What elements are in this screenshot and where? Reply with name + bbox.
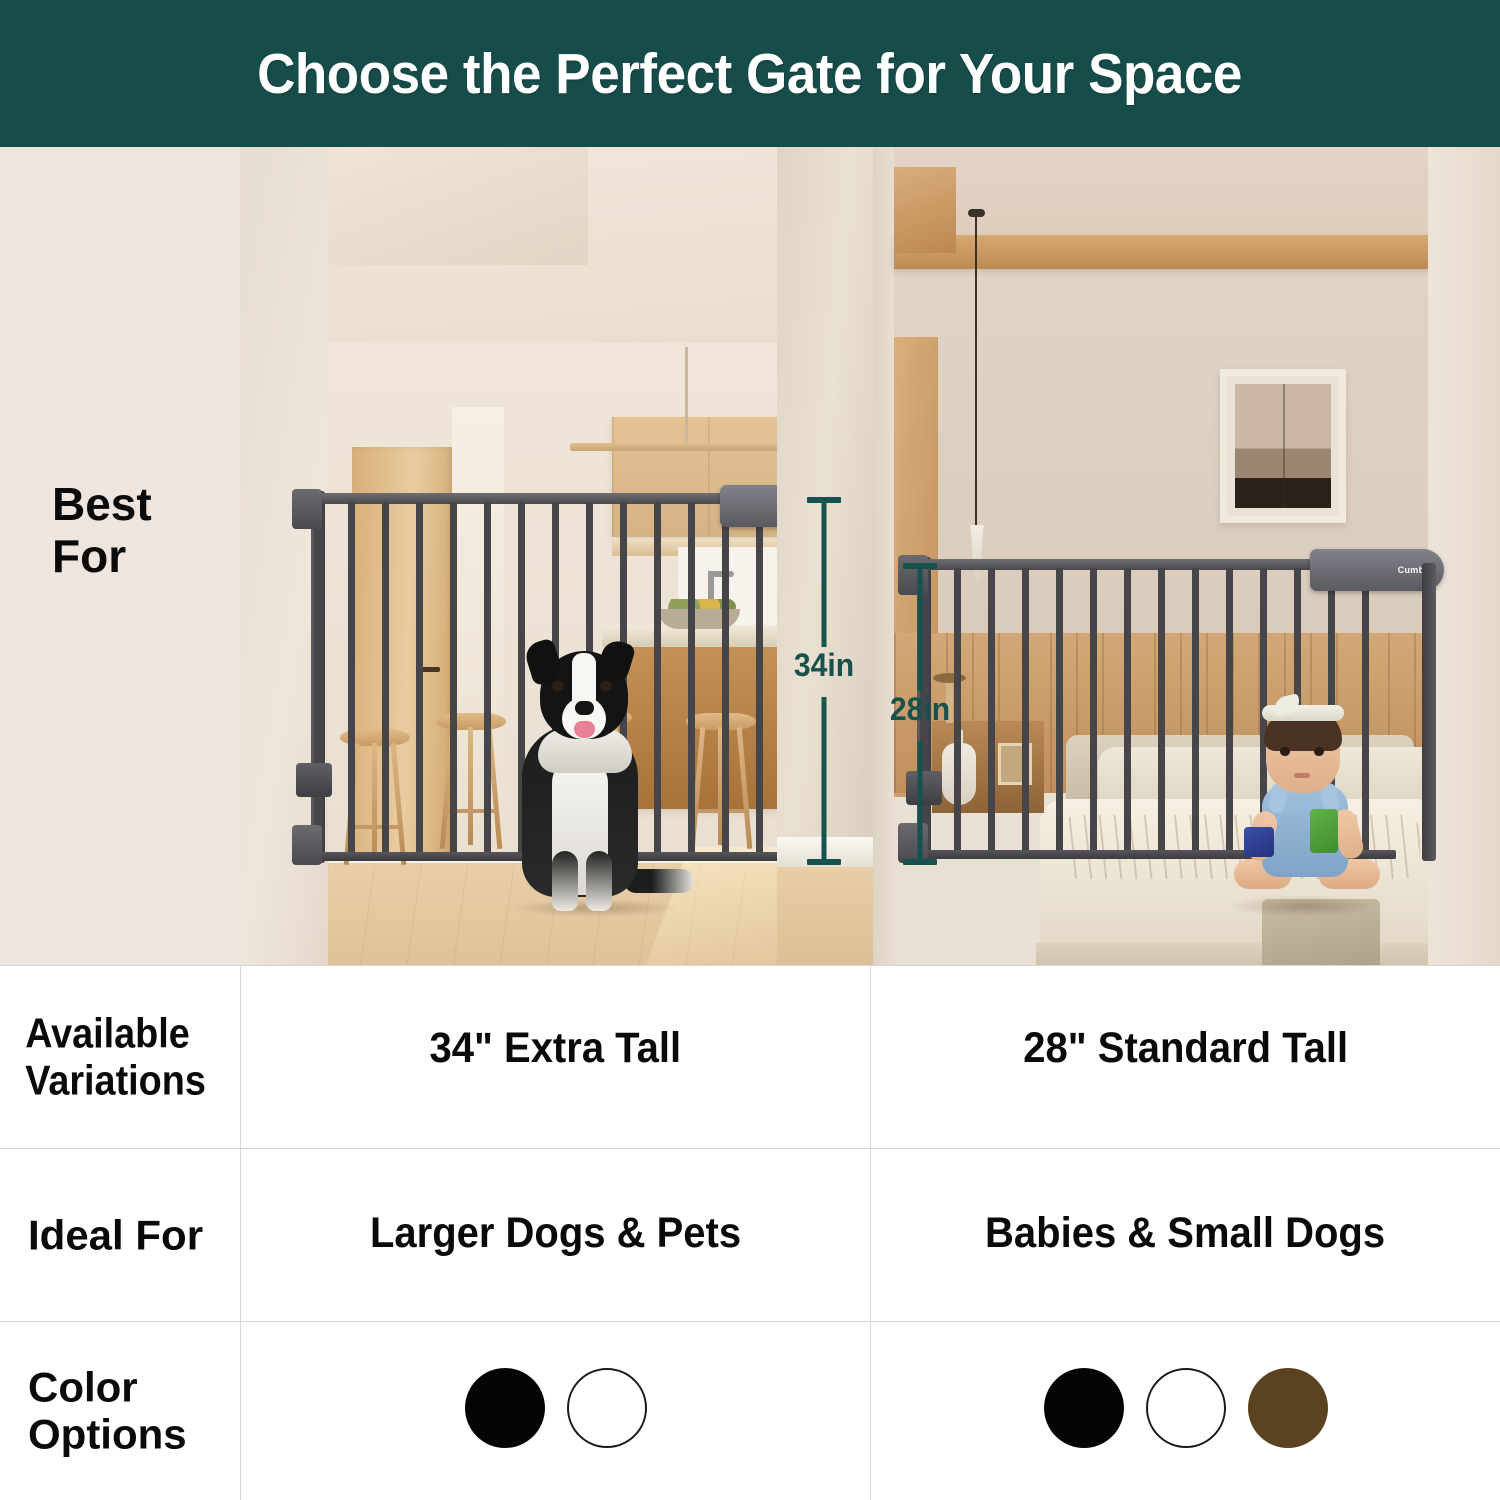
dog-photo-subject [490,637,695,917]
row-label-best-for-text: Best For [0,479,240,583]
right-product-photo: Cumbor [870,147,1500,965]
color-swatch-white[interactable] [567,1368,647,1448]
variations-left-value: 34" Extra Tall [430,1024,682,1073]
color-swatch-black[interactable] [465,1368,545,1448]
baby-photo-subject [1222,699,1387,924]
ideal-for-right-value: Babies & Small Dogs [985,1209,1385,1258]
header-banner: Choose the Perfect Gate for Your Space [0,0,1500,147]
variations-right-value: 28" Standard Tall [1023,1024,1348,1073]
variations-right-cell: 28" Standard Tall [870,966,1500,1148]
row-label-ideal-for: Ideal For [0,1149,240,1321]
label-line-1: Best [52,479,240,531]
page-title: Choose the Perfect Gate for Your Space [258,41,1243,107]
dimension-label-28in: 28in [888,691,952,728]
table-row-best-for: Best For [0,147,1500,965]
table-row-color-options: Color Options [0,1321,1500,1500]
swatch-group-left [241,1322,870,1500]
toy-block-green [1310,809,1338,853]
label-line-1: Available [25,1010,216,1057]
ideal-for-right-cell: Babies & Small Dogs [870,1149,1500,1321]
comparison-table: Best For [0,147,1500,1500]
color-options-right-cell [870,1322,1500,1500]
left-product-photo: Cumbor [240,147,870,965]
swatch-group-right [871,1322,1500,1500]
kitchen-scene: Cumbor [240,147,870,965]
row-label-variations: Available Variations [0,966,240,1148]
label-line-2: For [52,531,240,583]
label-line-1: Color [28,1364,240,1411]
ideal-for-left-cell: Larger Dogs & Pets [240,1149,870,1321]
row-label-ideal-for-text: Ideal For [0,1211,240,1258]
bedroom-scene: Cumbor [870,147,1500,965]
color-swatch-brown[interactable] [1248,1368,1328,1448]
table-row-ideal-for: Ideal For Larger Dogs & Pets Babies & Sm… [0,1148,1500,1321]
label-line-1: Ideal For [28,1211,240,1258]
framed-art [1220,369,1346,523]
infographic-page: Choose the Perfect Gate for Your Space B… [0,0,1500,1500]
color-options-left-cell [240,1322,870,1500]
row-label-variations-text: Available Variations [0,1010,216,1105]
row-label-color-options: Color Options [0,1322,240,1500]
dimension-marker-28in: 28in [886,563,954,867]
ideal-for-left-value: Larger Dogs & Pets [370,1209,741,1258]
row-label-color-options-text: Color Options [0,1364,240,1459]
label-line-2: Options [28,1411,240,1458]
toy-block-blue [1244,827,1274,857]
variations-left-cell: 34" Extra Tall [240,966,870,1148]
color-swatch-white[interactable] [1146,1368,1226,1448]
dimension-marker-34in: 34in [790,497,858,867]
table-row-variations: Available Variations 34" Extra Tall 28" … [0,965,1500,1148]
color-swatch-black[interactable] [1044,1368,1124,1448]
row-label-best-for: Best For [0,147,240,965]
dimension-label-34in: 34in [792,647,856,684]
label-line-2: Variations [25,1057,216,1104]
